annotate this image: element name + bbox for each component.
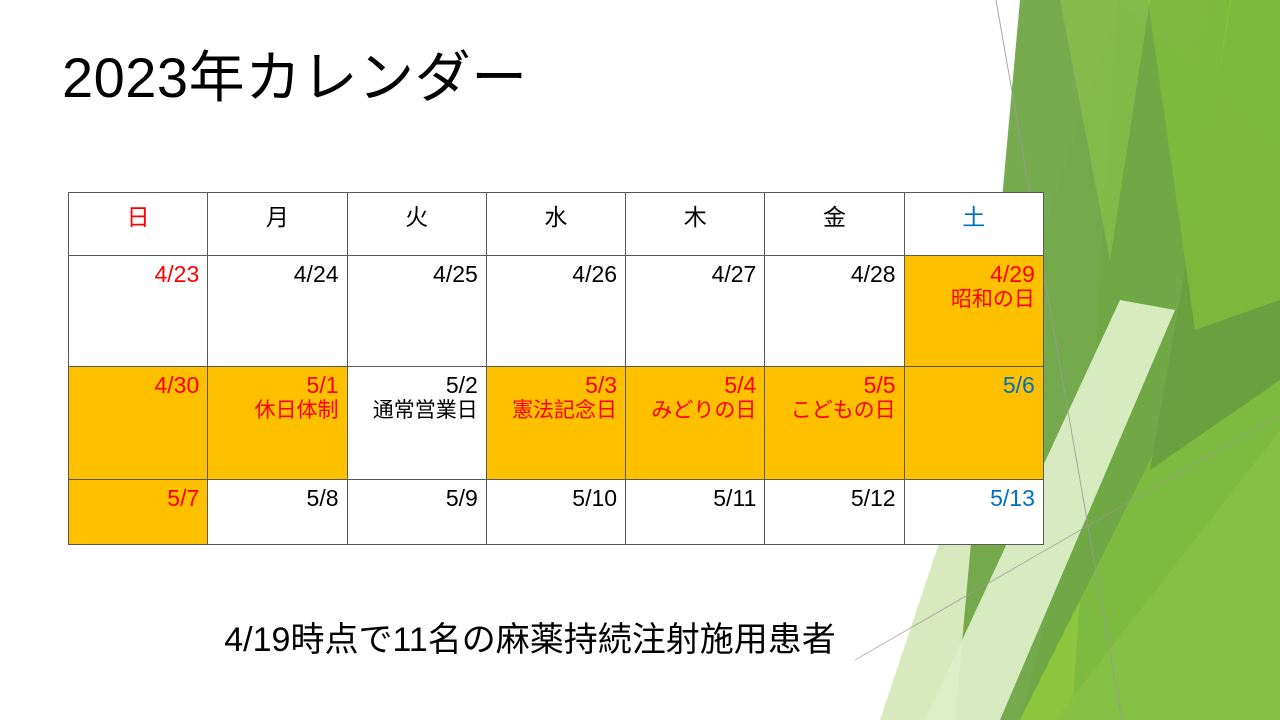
day-note: みどりの日 bbox=[630, 399, 756, 424]
green-shape-overlay-2 bbox=[1148, 0, 1280, 330]
calendar-day-cell-holiday[interactable]: 5/4 みどりの日 bbox=[626, 367, 765, 480]
green-shape-overlay-1 bbox=[1055, 430, 1280, 720]
day-date: 4/23 bbox=[73, 261, 199, 288]
day-date: 5/13 bbox=[909, 485, 1035, 512]
day-date: 5/4 bbox=[630, 372, 756, 399]
calendar-day-cell[interactable]: 5/8 bbox=[208, 480, 347, 545]
day-date: 5/5 bbox=[769, 372, 895, 399]
calendar-day-cell[interactable]: 4/24 bbox=[208, 256, 347, 367]
calendar-day-cell[interactable]: 4/28 bbox=[765, 256, 904, 367]
day-date: 5/3 bbox=[491, 372, 617, 399]
calendar-week-row: 4/30 5/1 休日体制 5/2 通常営業日 5/3 憲法記念日 5/4 bbox=[69, 367, 1044, 480]
day-date: 5/6 bbox=[909, 372, 1035, 399]
calendar-day-cell[interactable]: 4/25 bbox=[347, 256, 486, 367]
calendar-table: 日 月 火 水 木 金 土 4/23 4/24 4/25 bbox=[68, 192, 1044, 545]
calendar-body: 4/23 4/24 4/25 4/26 4/27 bbox=[69, 256, 1044, 545]
day-date: 4/27 bbox=[630, 261, 756, 288]
calendar-day-cell-holiday[interactable]: 5/3 憲法記念日 bbox=[486, 367, 625, 480]
day-date: 4/30 bbox=[73, 372, 199, 399]
day-date: 5/8 bbox=[212, 485, 338, 512]
day-date: 5/7 bbox=[73, 485, 199, 512]
calendar-day-cell-holiday[interactable]: 4/29 昭和の日 bbox=[904, 256, 1043, 367]
green-shape-accent-tip bbox=[1060, 0, 1150, 260]
slide-caption: 4/19時点で11名の麻薬持続注射施用患者 bbox=[0, 612, 1060, 661]
day-date: 5/9 bbox=[352, 485, 478, 512]
calendar-day-cell-holiday[interactable]: 4/30 bbox=[69, 367, 208, 480]
calendar-day-cell[interactable]: 4/27 bbox=[626, 256, 765, 367]
day-date: 5/2 bbox=[352, 372, 478, 399]
day-date: 5/10 bbox=[491, 485, 617, 512]
page-title: 2023年カレンダー bbox=[62, 47, 528, 110]
green-shape-mid bbox=[1072, 0, 1280, 720]
calendar-day-cell[interactable]: 5/2 通常営業日 bbox=[347, 367, 486, 480]
day-note: 憲法記念日 bbox=[491, 399, 617, 424]
calendar-day-cell[interactable]: 4/26 bbox=[486, 256, 625, 367]
day-date: 4/25 bbox=[352, 261, 478, 288]
day-note: 休日体制 bbox=[212, 399, 338, 424]
calendar-day-cell[interactable]: 4/23 bbox=[69, 256, 208, 367]
day-date: 5/12 bbox=[769, 485, 895, 512]
weekday-header-monday: 月 bbox=[208, 193, 347, 256]
presentation-slide: 2023年カレンダー 日 月 火 水 木 金 土 4/23 bbox=[0, 0, 1280, 720]
calendar-header-row-group: 日 月 火 水 木 金 土 bbox=[69, 193, 1044, 256]
day-date: 4/24 bbox=[212, 261, 338, 288]
calendar-day-cell[interactable]: 5/13 bbox=[904, 480, 1043, 545]
day-note: 昭和の日 bbox=[909, 288, 1035, 313]
weekday-header-tuesday: 火 bbox=[347, 193, 486, 256]
day-date: 4/28 bbox=[769, 261, 895, 288]
day-date: 5/1 bbox=[212, 372, 338, 399]
calendar-day-cell[interactable]: 5/9 bbox=[347, 480, 486, 545]
calendar-week-row: 5/7 5/8 5/9 5/10 5/11 bbox=[69, 480, 1044, 545]
calendar-week-row: 4/23 4/24 4/25 4/26 4/27 bbox=[69, 256, 1044, 367]
weekday-header-sunday: 日 bbox=[69, 193, 208, 256]
day-date: 5/11 bbox=[630, 485, 756, 512]
calendar-day-cell-holiday[interactable]: 5/7 bbox=[69, 480, 208, 545]
day-date: 4/29 bbox=[909, 261, 1035, 288]
weekday-header-saturday: 土 bbox=[904, 193, 1043, 256]
calendar-day-cell[interactable]: 5/10 bbox=[486, 480, 625, 545]
day-note: 通常営業日 bbox=[352, 399, 478, 424]
day-date: 4/26 bbox=[491, 261, 617, 288]
green-shape-dark-right bbox=[1150, 0, 1280, 470]
calendar-header-row: 日 月 火 水 木 金 土 bbox=[69, 193, 1044, 256]
calendar-day-cell[interactable]: 5/11 bbox=[626, 480, 765, 545]
calendar-day-cell-holiday[interactable]: 5/6 bbox=[904, 367, 1043, 480]
calendar-day-cell-holiday[interactable]: 5/5 こどもの日 bbox=[765, 367, 904, 480]
weekday-header-friday: 金 bbox=[765, 193, 904, 256]
weekday-header-wednesday: 水 bbox=[486, 193, 625, 256]
calendar-day-cell[interactable]: 5/12 bbox=[765, 480, 904, 545]
calendar-day-cell-holiday[interactable]: 5/1 休日体制 bbox=[208, 367, 347, 480]
day-note: こどもの日 bbox=[769, 399, 895, 424]
weekday-header-thursday: 木 bbox=[626, 193, 765, 256]
